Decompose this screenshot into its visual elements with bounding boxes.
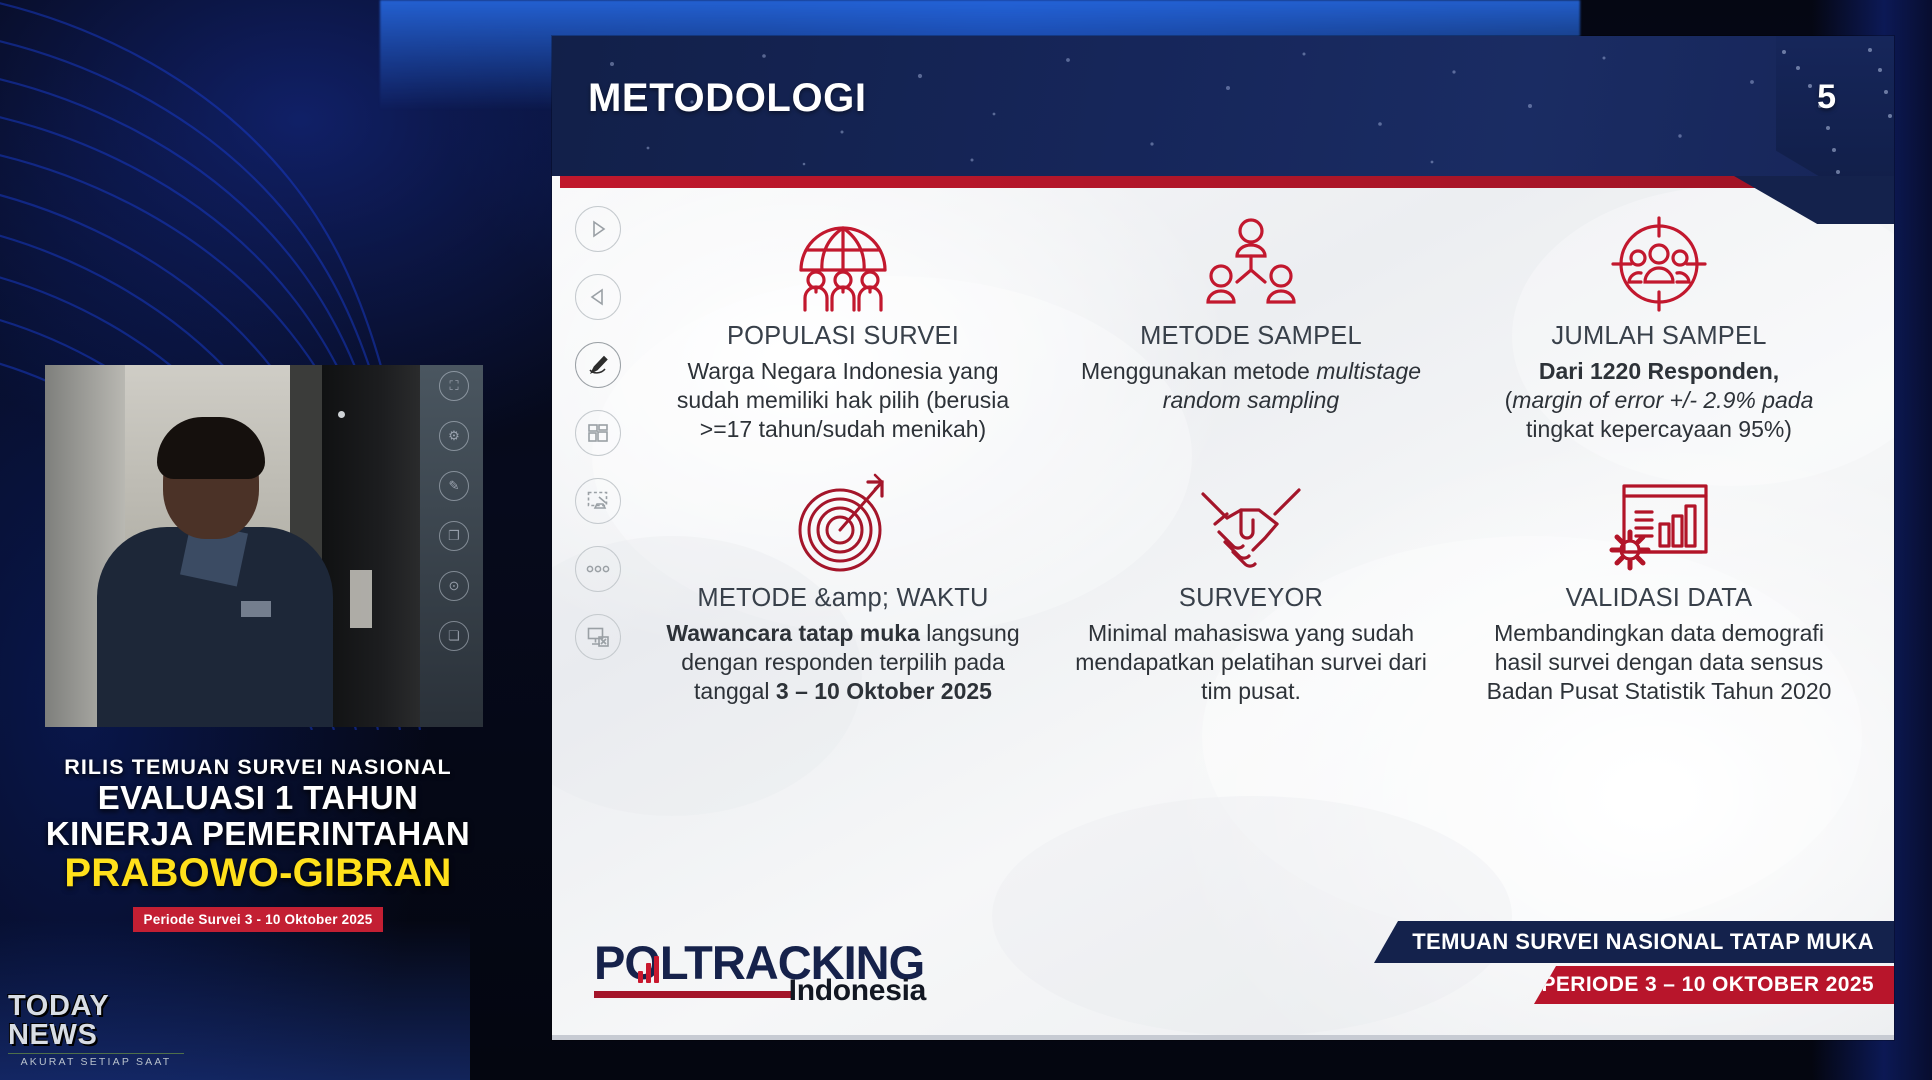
- cell-body: Menggunakan metode multistage random sam…: [1062, 357, 1440, 415]
- people-network-icon: [1062, 204, 1440, 314]
- pen-tool-button[interactable]: [575, 342, 621, 388]
- cell-title: POPULASI SURVEI: [654, 322, 1032, 351]
- cell-body: Membandingkan data demografi hasil surve…: [1470, 619, 1848, 706]
- methodology-cell: POPULASI SURVEI Warga Negara Indonesia y…: [648, 204, 1038, 444]
- footer-ribbons: TEMUAN SURVEI NASIONAL TATAP MUKA PERIOD…: [1374, 921, 1894, 1004]
- picture-in-picture-icon[interactable]: ❐: [439, 521, 469, 551]
- more-options-button[interactable]: [575, 546, 621, 592]
- settings-icon[interactable]: ⚙: [439, 421, 469, 451]
- methodology-cell: JUMLAH SAMPEL Dari 1220 Responden,(margi…: [1464, 204, 1854, 444]
- cell-body: Minimal mahasiswa yang sudah mendapatkan…: [1062, 619, 1440, 706]
- video-wall-dot: [338, 411, 345, 418]
- presenter-video[interactable]: ⛶ ⚙ ✎ ❐ ⊙ ❏: [45, 365, 483, 727]
- channel-tagline: AKURAT SETIAP SAAT: [8, 1056, 184, 1068]
- cc-icon[interactable]: ⊙: [439, 571, 469, 601]
- presentation-slide[interactable]: METODOLOGI 5: [552, 36, 1894, 1040]
- channel-name: TODAY NEWS: [8, 992, 184, 1050]
- methodology-grid: POPULASI SURVEI Warga Negara Indonesia y…: [648, 204, 1854, 706]
- channel-divider: [8, 1053, 184, 1054]
- slide-header: METODOLOGI: [552, 36, 1844, 176]
- fullscreen-icon[interactable]: ⛶: [439, 371, 469, 401]
- cell-title: METODE &amp; WAKTU: [654, 584, 1032, 613]
- cell-title: SURVEYOR: [1062, 584, 1440, 613]
- lower-third-line3: KINERJA PEMERINTAHAN: [38, 816, 478, 852]
- target-group-icon: [1470, 204, 1848, 314]
- logo-subtitle: Indonesia: [789, 974, 926, 1008]
- channel-bug: TODAY NEWS AKURAT SETIAP SAAT: [8, 992, 184, 1068]
- previous-slide-button[interactable]: [575, 274, 621, 320]
- chart-gear-icon: [1470, 466, 1848, 576]
- presenter-control-rail: [566, 206, 630, 682]
- all-slides-button[interactable]: [575, 410, 621, 456]
- globe-people-icon: [654, 204, 1032, 314]
- slide-page-number: 5: [1817, 78, 1836, 117]
- ribbon-red-label: PERIODE 3 – 10 OKTOBER 2025: [1534, 966, 1894, 1004]
- methodology-cell: SURVEYOR Minimal mahasiswa yang sudah me…: [1056, 466, 1446, 706]
- more-icon[interactable]: ❏: [439, 621, 469, 651]
- cell-body: Warga Negara Indonesia yang sudah memili…: [654, 357, 1032, 444]
- target-dart-icon: [654, 466, 1032, 576]
- video-light-strip: [350, 570, 372, 628]
- video-dark-area: [322, 365, 420, 727]
- next-slide-button[interactable]: [575, 206, 621, 252]
- cell-title: VALIDASI DATA: [1470, 584, 1848, 613]
- presenter-badge: [241, 601, 271, 617]
- logo-underline: [594, 991, 792, 998]
- cell-title: JUMLAH SAMPEL: [1470, 322, 1848, 351]
- logo-bar-chart-icon: [631, 949, 665, 983]
- slide-bottom-line: [552, 1035, 1894, 1040]
- cell-title: METODE SAMPEL: [1062, 322, 1440, 351]
- survey-period-badge: Periode Survei 3 - 10 Oktober 2025: [133, 907, 383, 932]
- lower-third-line1: RILIS TEMUAN SURVEI NASIONAL: [38, 755, 478, 780]
- ribbon-navy-label: TEMUAN SURVEI NASIONAL TATAP MUKA: [1374, 921, 1894, 963]
- zoom-slide-button[interactable]: [575, 478, 621, 524]
- handshake-icon: [1062, 466, 1440, 576]
- page-title: METODOLOGI: [588, 76, 867, 121]
- header-red-bar: [560, 176, 1850, 188]
- screen: ⛶ ⚙ ✎ ❐ ⊙ ❏ RILIS TEMUAN SURVEI NASIONAL…: [0, 0, 1932, 1080]
- end-show-button[interactable]: [575, 614, 621, 660]
- video-control-column: ⛶ ⚙ ✎ ❐ ⊙ ❏: [431, 371, 477, 671]
- methodology-cell: METODE &amp; WAKTU Wawancara tatap muka …: [648, 466, 1038, 706]
- methodology-cell: VALIDASI DATA Membandingkan data demogra…: [1464, 466, 1854, 706]
- lower-third: RILIS TEMUAN SURVEI NASIONAL EVALUASI 1 …: [38, 755, 478, 932]
- methodology-cell: METODE SAMPEL Menggunakan metode multist…: [1056, 204, 1446, 444]
- lower-third-line4: PRABOWO-GIBRAN: [38, 852, 478, 894]
- cell-body: Dari 1220 Responden,(margin of error +/-…: [1470, 357, 1848, 444]
- volume-icon[interactable]: ✎: [439, 471, 469, 501]
- cell-body: Wawancara tatap muka langsung dengan res…: [654, 619, 1032, 706]
- poltracking-logo: POLTRACKING Indonesia: [594, 940, 924, 998]
- lower-third-line2: EVALUASI 1 TAHUN: [38, 780, 478, 816]
